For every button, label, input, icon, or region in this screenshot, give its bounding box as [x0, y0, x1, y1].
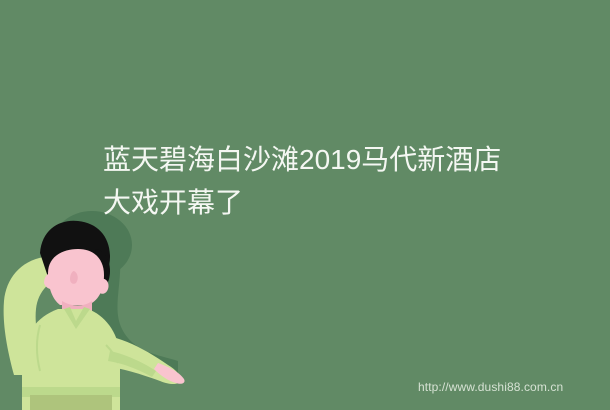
promo-banner: 蓝天碧海白沙滩2019马代新酒店大戏开幕了 http://www.dushi88…	[0, 0, 610, 410]
trousers-shape	[30, 395, 112, 410]
headline-line-1: 蓝天碧海白沙滩2019马代新酒	[103, 144, 473, 175]
watermark-url: http://www.dushi88.com.cn	[418, 380, 563, 394]
person-hand-on-head-illustration	[0, 205, 215, 410]
headline-text: 蓝天碧海白沙滩2019马代新酒店大戏开幕了	[103, 138, 523, 224]
